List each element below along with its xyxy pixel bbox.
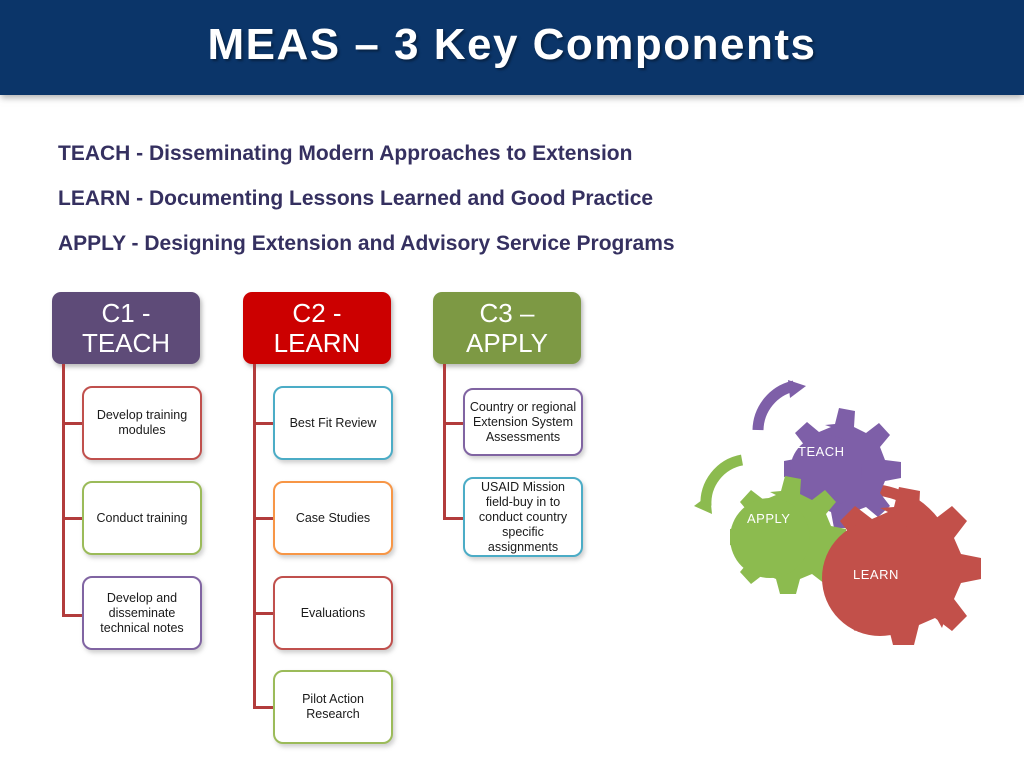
node-c2-case-studies[interactable]: Case Studies xyxy=(273,481,393,555)
connector-stub-c2-3 xyxy=(253,612,275,615)
connector-stub-c2-2 xyxy=(253,517,275,520)
teach-arrow-icon xyxy=(758,380,806,430)
apply-arrow-icon xyxy=(694,460,742,514)
components-flowchart: C1 -TEACH Develop training modules Condu… xyxy=(0,0,660,768)
node-c1-conduct-training[interactable]: Conduct training xyxy=(82,481,202,555)
gears-svg xyxy=(690,378,1010,658)
connector-stub-c2-4 xyxy=(253,706,275,709)
node-c3-usaid-mission-field-buy[interactable]: USAID Mission field-buy in to conduct co… xyxy=(463,477,583,557)
gears-graphic: TEACH APPLY LEARN xyxy=(690,378,1010,658)
node-c2-best-fit-review[interactable]: Best Fit Review xyxy=(273,386,393,460)
connector-stub-c3-2 xyxy=(443,517,465,520)
node-c2-evaluations[interactable]: Evaluations xyxy=(273,576,393,650)
node-c1-develop-training-modules[interactable]: Develop training modules xyxy=(82,386,202,460)
connector-stub-c3-1 xyxy=(443,422,465,425)
column-header-c1[interactable]: C1 -TEACH xyxy=(52,292,200,364)
connector-stub-c2-1 xyxy=(253,422,275,425)
column-header-c3[interactable]: C3 –APPLY xyxy=(433,292,581,364)
connector-stub-c1-2 xyxy=(62,517,84,520)
connector-stub-c1-3 xyxy=(62,614,84,617)
connector-trunk-c1 xyxy=(62,364,65,617)
node-c3-extension-system-assessments[interactable]: Country or regional Extension System Ass… xyxy=(463,388,583,456)
connector-trunk-c2 xyxy=(253,364,256,706)
connector-stub-c1-1 xyxy=(62,422,84,425)
node-c1-technical-notes[interactable]: Develop and disseminate technical notes xyxy=(82,576,202,650)
node-c2-pilot-action-research[interactable]: Pilot Action Research xyxy=(273,670,393,744)
column-header-c2[interactable]: C2 -LEARN xyxy=(243,292,391,364)
connector-trunk-c3 xyxy=(443,364,446,519)
